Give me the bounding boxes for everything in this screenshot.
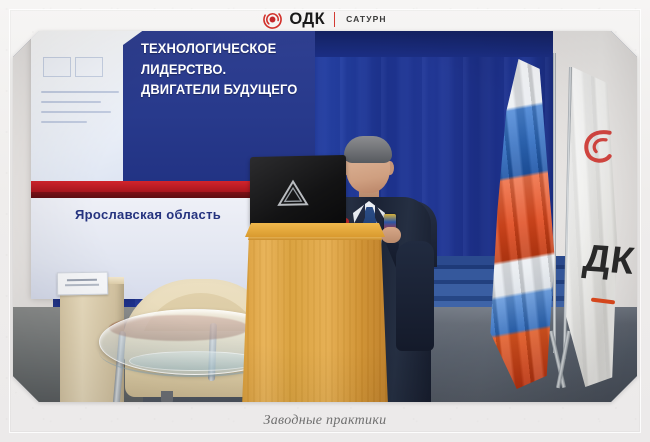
- headline-line-1: ТЕХНОЛОГИЧЕСКОЕ: [141, 39, 314, 60]
- photo-card: ОДК САТУРН: [0, 0, 650, 442]
- brand-header: ОДК САТУРН: [0, 6, 650, 32]
- photo-caption: Заводные практики: [0, 406, 650, 436]
- headline-line-3: ДВИГАТЕЛИ БУДУЩЕГО: [141, 80, 314, 101]
- headline-line-2: ЛИДЕРСТВО.: [141, 60, 314, 81]
- odk-spiral-icon: [263, 10, 282, 29]
- sub-brand-name: САТУРН: [346, 15, 387, 24]
- banner-region-label: Ярославская область: [75, 207, 221, 222]
- presentation-photo: ТЕХНОЛОГИЧЕСКОЕ ЛИДЕРСТВО. ДВИГАТЕЛИ БУД…: [13, 31, 637, 402]
- brand-divider: [334, 12, 335, 27]
- brand-name: ОДК: [289, 11, 325, 28]
- caption-text: Заводные практики: [264, 413, 387, 429]
- banner-headline: ТЕХНОЛОГИЧЕСКОЕ ЛИДЕРСТВО. ДВИГАТЕЛИ БУД…: [141, 39, 314, 101]
